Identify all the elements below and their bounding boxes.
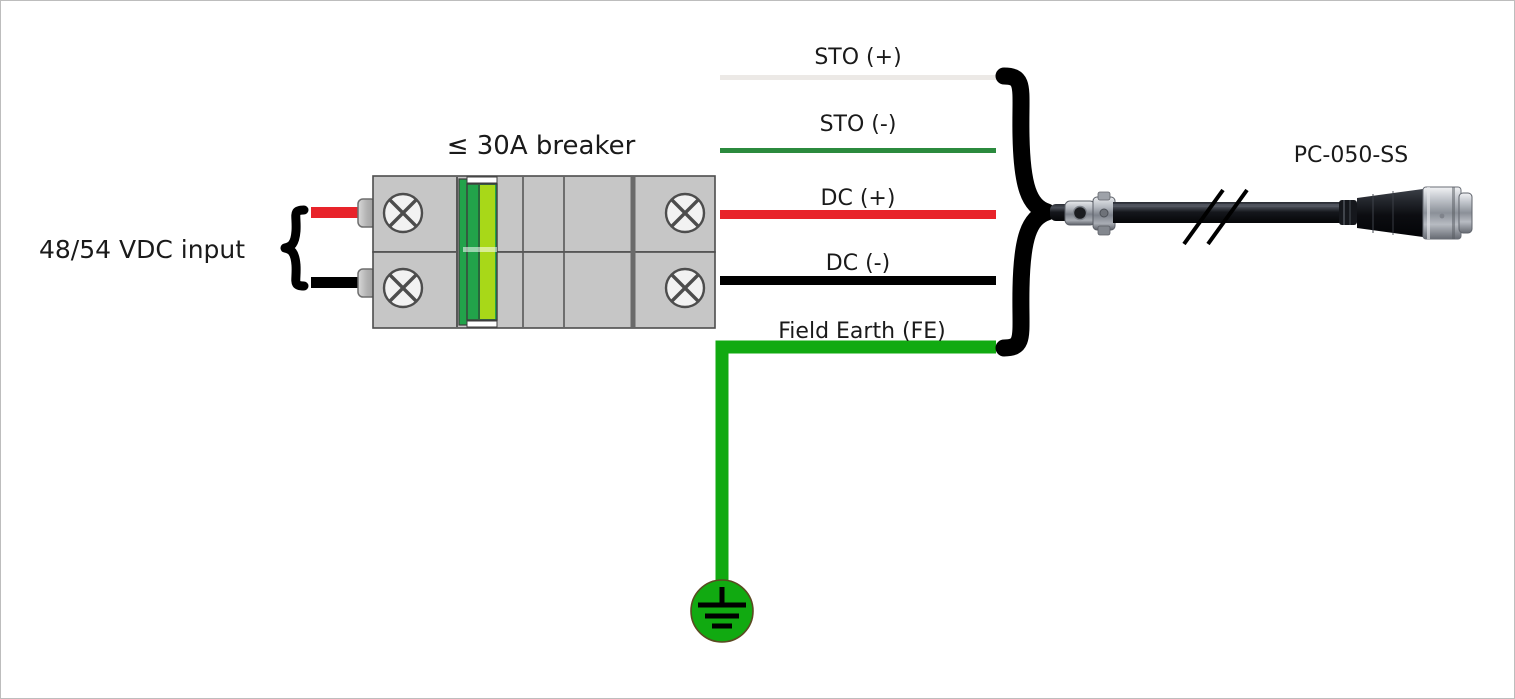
protective-earth-icon — [691, 580, 753, 642]
cable-part-number-label: PC-050-SS — [1294, 145, 1408, 167]
cross-screw-icon[interactable] — [666, 194, 704, 232]
left-curly-brace — [285, 210, 304, 286]
connector-end-face — [1459, 193, 1472, 233]
wire-dc-positive — [720, 210, 996, 219]
cross-screw-icon[interactable] — [384, 194, 422, 232]
wire-label-field-earth: Field Earth (FE) — [778, 321, 945, 343]
wire-sto-positive — [720, 75, 996, 80]
cross-screw-icon[interactable] — [666, 269, 704, 307]
breaker-pole-upper — [373, 176, 715, 252]
circuit-breaker — [358, 176, 715, 328]
cable-gland-ring-terminal — [1065, 192, 1115, 235]
breaker-title: ≤ 30A breaker — [447, 133, 636, 159]
cross-screw-icon[interactable] — [384, 269, 422, 307]
input-voltage-label: 48/54 VDC input — [39, 237, 245, 262]
breaker-toggle-lever[interactable] — [458, 177, 497, 327]
wire-label-sto-negative: STO (-) — [820, 114, 897, 136]
wire-label-sto-positive: STO (+) — [814, 47, 901, 69]
wire-label-dc-negative: DC (-) — [826, 253, 890, 275]
wiring-diagram-canvas: STO (+) STO (-) DC (+) DC (-) Field Eart… — [0, 0, 1515, 699]
wire-dc-negative — [720, 276, 996, 285]
diagram-graphics — [1, 1, 1515, 699]
wire-label-dc-positive: DC (+) — [821, 188, 896, 210]
wire-field-earth — [722, 347, 996, 596]
breaker-pole-lower — [373, 252, 715, 328]
wire-sto-negative — [720, 148, 996, 153]
right-curly-brace — [1004, 76, 1047, 348]
m-circular-connector — [1339, 187, 1472, 239]
cable-assembly — [1050, 187, 1472, 244]
